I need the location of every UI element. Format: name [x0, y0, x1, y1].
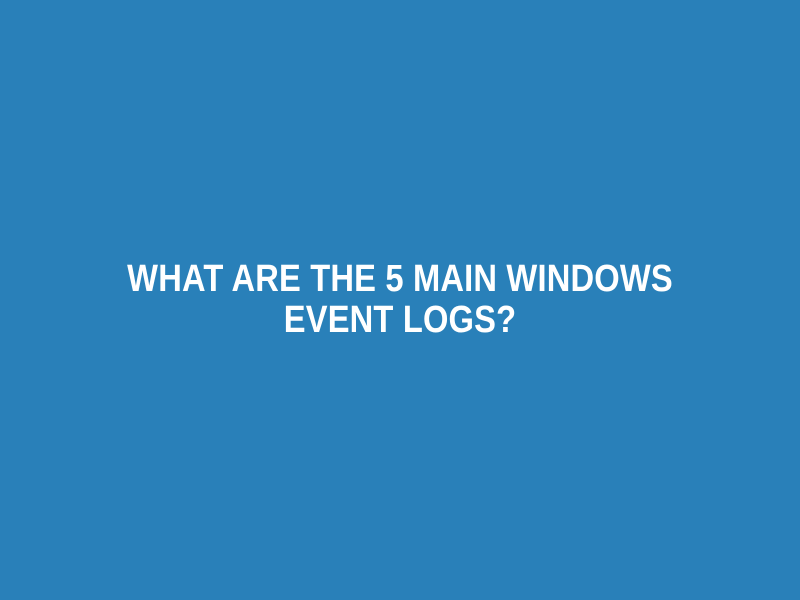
- title-block: WHAT ARE THE 5 MAIN WINDOWS EVENT LOGS?: [50, 259, 750, 341]
- hero-banner: WHAT ARE THE 5 MAIN WINDOWS EVENT LOGS?: [0, 0, 800, 600]
- hero-content-wrapper: WHAT ARE THE 5 MAIN WINDOWS EVENT LOGS?: [0, 0, 800, 600]
- page-title: WHAT ARE THE 5 MAIN WINDOWS EVENT LOGS?: [99, 259, 701, 341]
